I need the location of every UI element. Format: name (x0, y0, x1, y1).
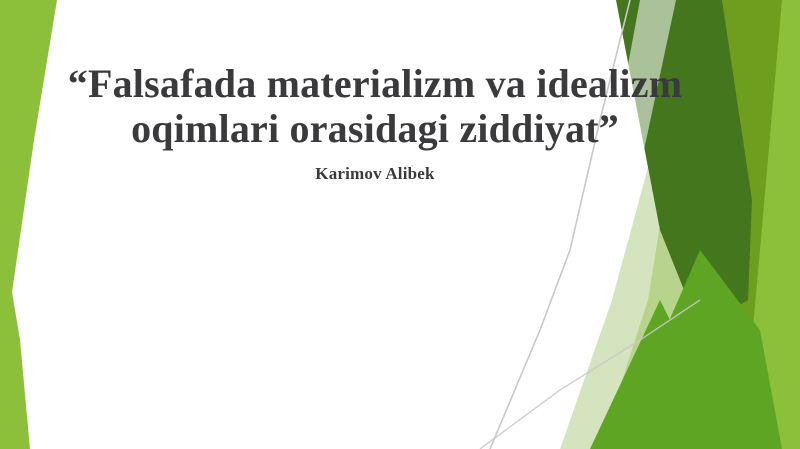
slide-text-layer: “Falsafada materializm va idealizm oqiml… (0, 0, 800, 449)
title-slide: “Falsafada materializm va idealizm oqiml… (0, 0, 800, 449)
page-title: “Falsafada materializm va idealizm oqiml… (60, 62, 690, 152)
title-block: “Falsafada materializm va idealizm oqiml… (60, 62, 690, 184)
slide-subtitle: Karimov Alibek (60, 164, 690, 184)
